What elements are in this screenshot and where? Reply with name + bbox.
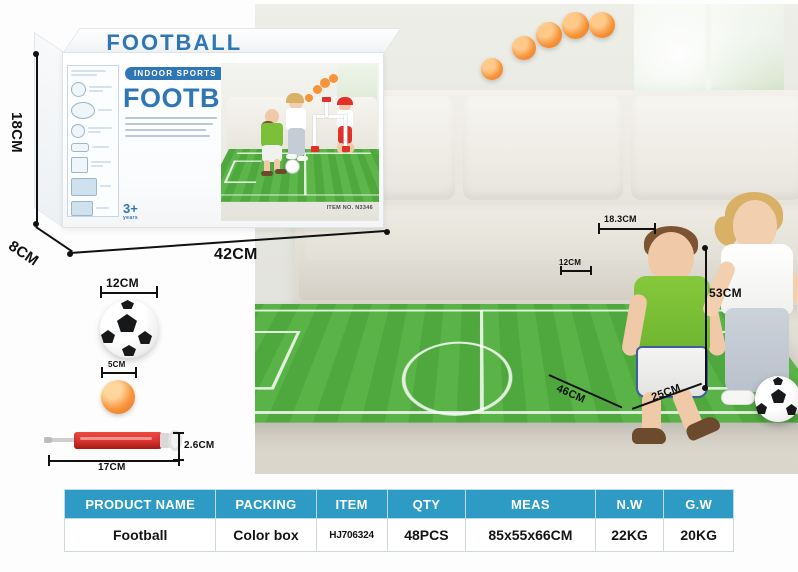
pump-barrel	[74, 432, 162, 449]
dim-tick	[654, 223, 656, 234]
panel-part-row	[71, 102, 115, 119]
dim-label-soccer-ball: 12CM	[106, 276, 139, 290]
dim-label-backboard-width: 18.3CM	[604, 214, 637, 224]
cell-product-name: Football	[65, 519, 216, 552]
panel-part-row	[71, 143, 115, 152]
panel-header-lines	[71, 70, 115, 76]
age-marker: 3+ years	[123, 203, 138, 221]
girl-head	[733, 200, 777, 250]
dim-line-height	[705, 248, 707, 388]
orange-ball-accessory	[101, 380, 135, 414]
ball-panel	[138, 331, 152, 344]
ball-panel	[773, 377, 783, 385]
dim-tick	[135, 367, 137, 378]
dim-label-pump-length: 17CM	[98, 462, 125, 473]
artwork-orange-ball	[329, 74, 338, 83]
dim-label-hoop-diameter: 12CM	[559, 258, 581, 267]
girl-shoe-left	[721, 390, 755, 405]
dim-tick	[590, 266, 592, 275]
artwork-goal-joint	[342, 146, 350, 152]
panel-part-row	[71, 157, 115, 173]
artwork-orange-ball	[305, 94, 313, 102]
ball-panel	[786, 404, 797, 415]
dim-line-box-depth	[36, 226, 73, 252]
cell-meas: 85x55x66CM	[466, 519, 596, 552]
package-description	[125, 117, 217, 141]
panel-part-row	[71, 124, 115, 138]
dim-endpoint	[702, 385, 708, 391]
package-artwork-scene	[221, 63, 379, 221]
dim-tick	[100, 286, 102, 298]
dim-endpoint	[33, 51, 39, 57]
panel-part-row	[71, 178, 115, 196]
column-header-product-name: PRODUCT NAME	[65, 490, 216, 519]
cell-packing: Color box	[216, 519, 316, 552]
dim-line-orange-ball	[101, 372, 137, 374]
retail-package-box: FOOTBALL	[34, 28, 384, 228]
column-header-gw: G.W	[664, 490, 734, 519]
mat-icon	[71, 178, 97, 196]
dim-line-soccer-ball	[100, 292, 158, 294]
package-front-face: INDOOR SPORTS FOOTBALL 3+ years	[62, 52, 384, 228]
sofa-cushion	[631, 96, 798, 200]
artwork-soccer-ball	[285, 159, 300, 174]
orange-ball-trail	[481, 58, 503, 80]
soccer-ball-accessory	[100, 300, 158, 358]
dim-label-box-height: 18CM	[8, 112, 25, 153]
indoor-sports-badge: INDOOR SPORTS	[125, 67, 226, 80]
dim-tick	[173, 459, 184, 461]
dim-tick	[156, 286, 158, 298]
dim-tick	[101, 367, 103, 378]
column-header-packing: PACKING	[216, 490, 316, 519]
dim-label-box-width: 42CM	[214, 246, 257, 264]
package-top-face: FOOTBALL	[62, 28, 402, 54]
ball-panel	[756, 403, 767, 414]
dim-label-box-depth: 8CM	[5, 237, 41, 269]
orange-ball-trail	[512, 36, 536, 60]
age-unit: years	[123, 215, 138, 221]
artwork-goal-post	[344, 115, 347, 149]
ball-panel	[121, 300, 134, 309]
ball-panel	[101, 330, 115, 343]
ball-panel	[117, 314, 137, 332]
orange-ball-trail	[589, 12, 615, 38]
soccer-ball-in-play	[755, 376, 798, 422]
dim-line-backboard	[598, 228, 656, 230]
table-header-row: PRODUCT NAME PACKING ITEM QTY MEAS N.W G…	[65, 490, 734, 519]
dim-endpoint	[384, 229, 390, 235]
net-icon	[71, 201, 93, 216]
artwork-goal-crossbar	[313, 115, 347, 118]
artwork-child-girl	[283, 95, 311, 167]
orange-ball-icon	[71, 124, 85, 138]
table-row: Football Color box HJ706324 48PCS 85x55x…	[65, 519, 734, 552]
mat-center-circle	[396, 341, 516, 415]
package-contents-panel	[67, 65, 119, 217]
dim-tick	[48, 455, 50, 466]
mat-penalty-box-left	[255, 331, 301, 390]
dim-tick	[560, 266, 562, 275]
column-header-meas: MEAS	[466, 490, 596, 519]
package-side-face	[34, 32, 64, 228]
cell-item: HJ706324	[316, 519, 387, 552]
artwork-goal-post	[313, 115, 316, 149]
dim-label-orange-ball: 5CM	[108, 360, 126, 369]
boy-shoe-left	[632, 428, 666, 444]
boy-shirt	[634, 276, 710, 352]
dim-label-pump-height: 2.6CM	[184, 440, 214, 451]
package-item-number: ITEM NO. N3346	[327, 205, 373, 211]
cell-gw: 20KG	[664, 519, 734, 552]
dim-label-total-height: 53CM	[709, 286, 742, 300]
column-header-item: ITEM	[316, 490, 387, 519]
pump-icon	[71, 143, 89, 152]
artwork-goal-joint	[311, 146, 319, 152]
goal-ring-icon	[71, 102, 95, 119]
soccer-ball-icon	[71, 82, 86, 97]
orange-ball-trail	[562, 12, 589, 39]
orange-ball-trail	[536, 22, 562, 48]
column-header-qty: QTY	[387, 490, 466, 519]
cell-nw: 22KG	[595, 519, 664, 552]
ball-panel	[122, 345, 136, 356]
dim-tick	[173, 432, 184, 434]
dim-endpoint	[702, 245, 708, 251]
boy-head	[648, 232, 694, 282]
dim-endpoint	[67, 251, 73, 257]
hand-pump-accessory	[48, 432, 188, 454]
dim-line-pump-height	[178, 432, 180, 460]
dim-tick	[598, 223, 600, 234]
specification-table: PRODUCT NAME PACKING ITEM QTY MEAS N.W G…	[64, 489, 734, 552]
panel-part-row	[71, 201, 115, 216]
sofa-cushion	[463, 96, 623, 200]
age-value: 3+	[123, 203, 138, 215]
ball-panel	[771, 389, 786, 403]
artwork-goal-joint	[322, 97, 331, 102]
cell-qty: 48PCS	[387, 519, 466, 552]
panel-part-row	[71, 82, 115, 97]
column-header-nw: N.W	[595, 490, 664, 519]
connector-icon	[71, 157, 88, 173]
girl-shirt	[721, 244, 793, 314]
dim-line-box-height	[36, 54, 38, 224]
package-top-title: FOOTBALL	[106, 30, 242, 54]
product-listing-image: PARTY TIME	[0, 0, 798, 572]
dim-line-hoop	[560, 270, 592, 272]
pump-nozzle	[48, 438, 76, 442]
